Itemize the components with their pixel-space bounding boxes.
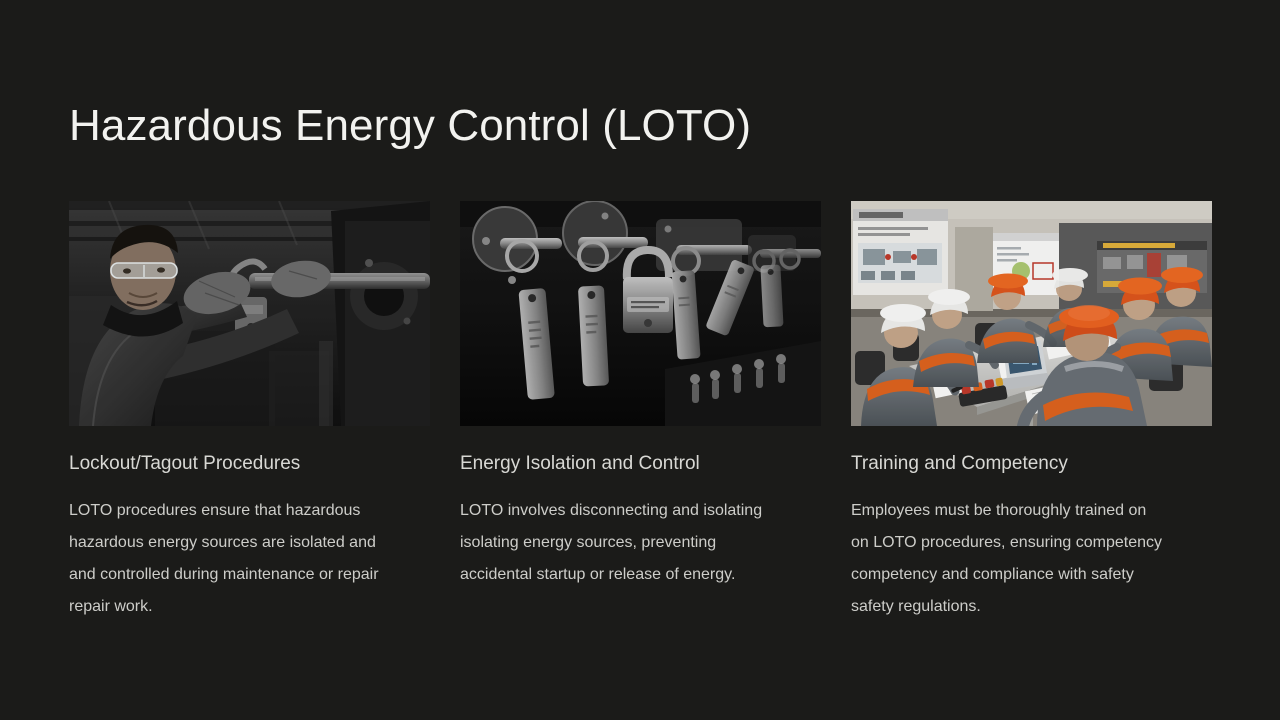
padlocks-and-tags-photo (460, 201, 821, 426)
slide: Hazardous Energy Control (LOTO) (0, 0, 1280, 720)
card-heading-1: Lockout/Tagout Procedures (69, 452, 430, 476)
body-line: LOTO procedures ensure that hazardous (69, 495, 430, 527)
card-body-3: Employees must be thoroughly trained on … (851, 495, 1212, 623)
body-line: LOTO involves disconnecting and isolatin… (460, 495, 821, 527)
card-body-2: LOTO involves disconnecting and isolatin… (460, 495, 821, 591)
content-card-2: Energy Isolation and Control LOTO involv… (460, 201, 821, 623)
body-line: competency and compliance with safety (851, 559, 1212, 591)
content-card-1: Lockout/Tagout Procedures LOTO procedure… (69, 201, 430, 623)
body-line: hazardous energy sources are isolated an… (69, 527, 430, 559)
body-line: and controlled during maintenance or rep… (69, 559, 430, 591)
card-heading-3: Training and Competency (851, 452, 1212, 476)
body-line: on LOTO procedures, ensuring competency (851, 527, 1212, 559)
body-line: isolating energy sources, preventing (460, 527, 821, 559)
card-body-1: LOTO procedures ensure that hazardous ha… (69, 495, 430, 623)
content-columns: Lockout/Tagout Procedures LOTO procedure… (69, 201, 1211, 623)
body-line: accidental startup or release of energy. (460, 559, 821, 591)
body-line: safety regulations. (851, 591, 1212, 623)
page-title: Hazardous Energy Control (LOTO) (69, 101, 751, 151)
body-line: repair work. (69, 591, 430, 623)
worker-applying-padlock-photo (69, 201, 430, 426)
content-card-3: Training and Competency Employees must b… (851, 201, 1212, 623)
body-line: Employees must be thoroughly trained on (851, 495, 1212, 527)
safety-training-session-photo (851, 201, 1212, 426)
card-heading-2: Energy Isolation and Control (460, 452, 821, 476)
